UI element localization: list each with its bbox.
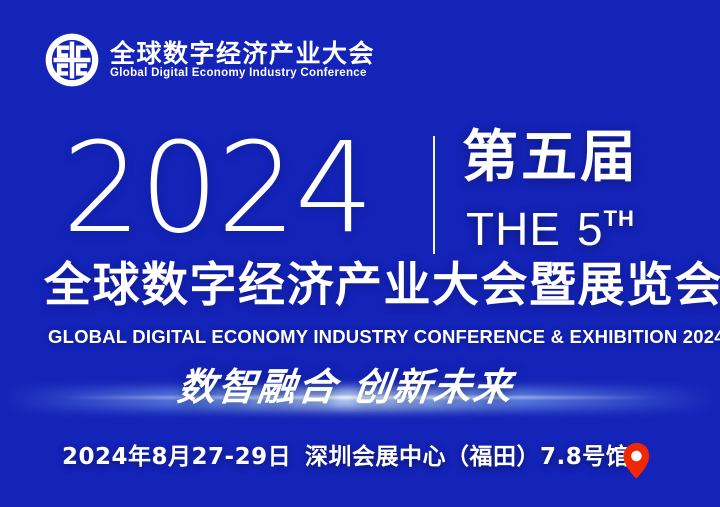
hero-year: 2024 [62, 126, 372, 251]
edition-en-prefix: THE [466, 206, 561, 252]
brand-name-en: Global Digital Economy Industry Conferen… [110, 68, 375, 80]
poster-content: 全球数字经济产业大会 Global Digital Economy Indust… [0, 0, 720, 507]
hero-edition-cn: 第五届 [462, 130, 639, 186]
edition-en-number: 5 [577, 206, 604, 252]
event-title-cn: 全球数字经济产业大会暨展览会 [44, 262, 720, 309]
event-slogan: 数智融合 创新未来 [176, 368, 516, 406]
hero-edition-en: THE 5 TH [466, 206, 635, 252]
brand-logo-text: 全球数字经济产业大会 Global Digital Economy Indust… [110, 41, 375, 80]
hero-divider [433, 136, 435, 254]
brand-logo[interactable]: 全球数字经济产业大会 Global Digital Economy Indust… [44, 32, 375, 88]
gdec-emblem-icon [44, 32, 100, 88]
event-venue: 深圳会展中心（福田）7.8号馆 [305, 446, 629, 469]
event-date: 2024年8月27-29日 [62, 446, 291, 469]
conference-poster: 1 号门 安全出口 [0, 0, 720, 507]
brand-name-cn: 全球数字经济产业大会 [110, 41, 375, 66]
edition-en-ordinal: TH [604, 208, 635, 230]
location-pin-icon [622, 443, 652, 479]
event-title-en: GLOBAL DIGITAL ECONOMY INDUSTRY CONFEREN… [48, 328, 720, 347]
